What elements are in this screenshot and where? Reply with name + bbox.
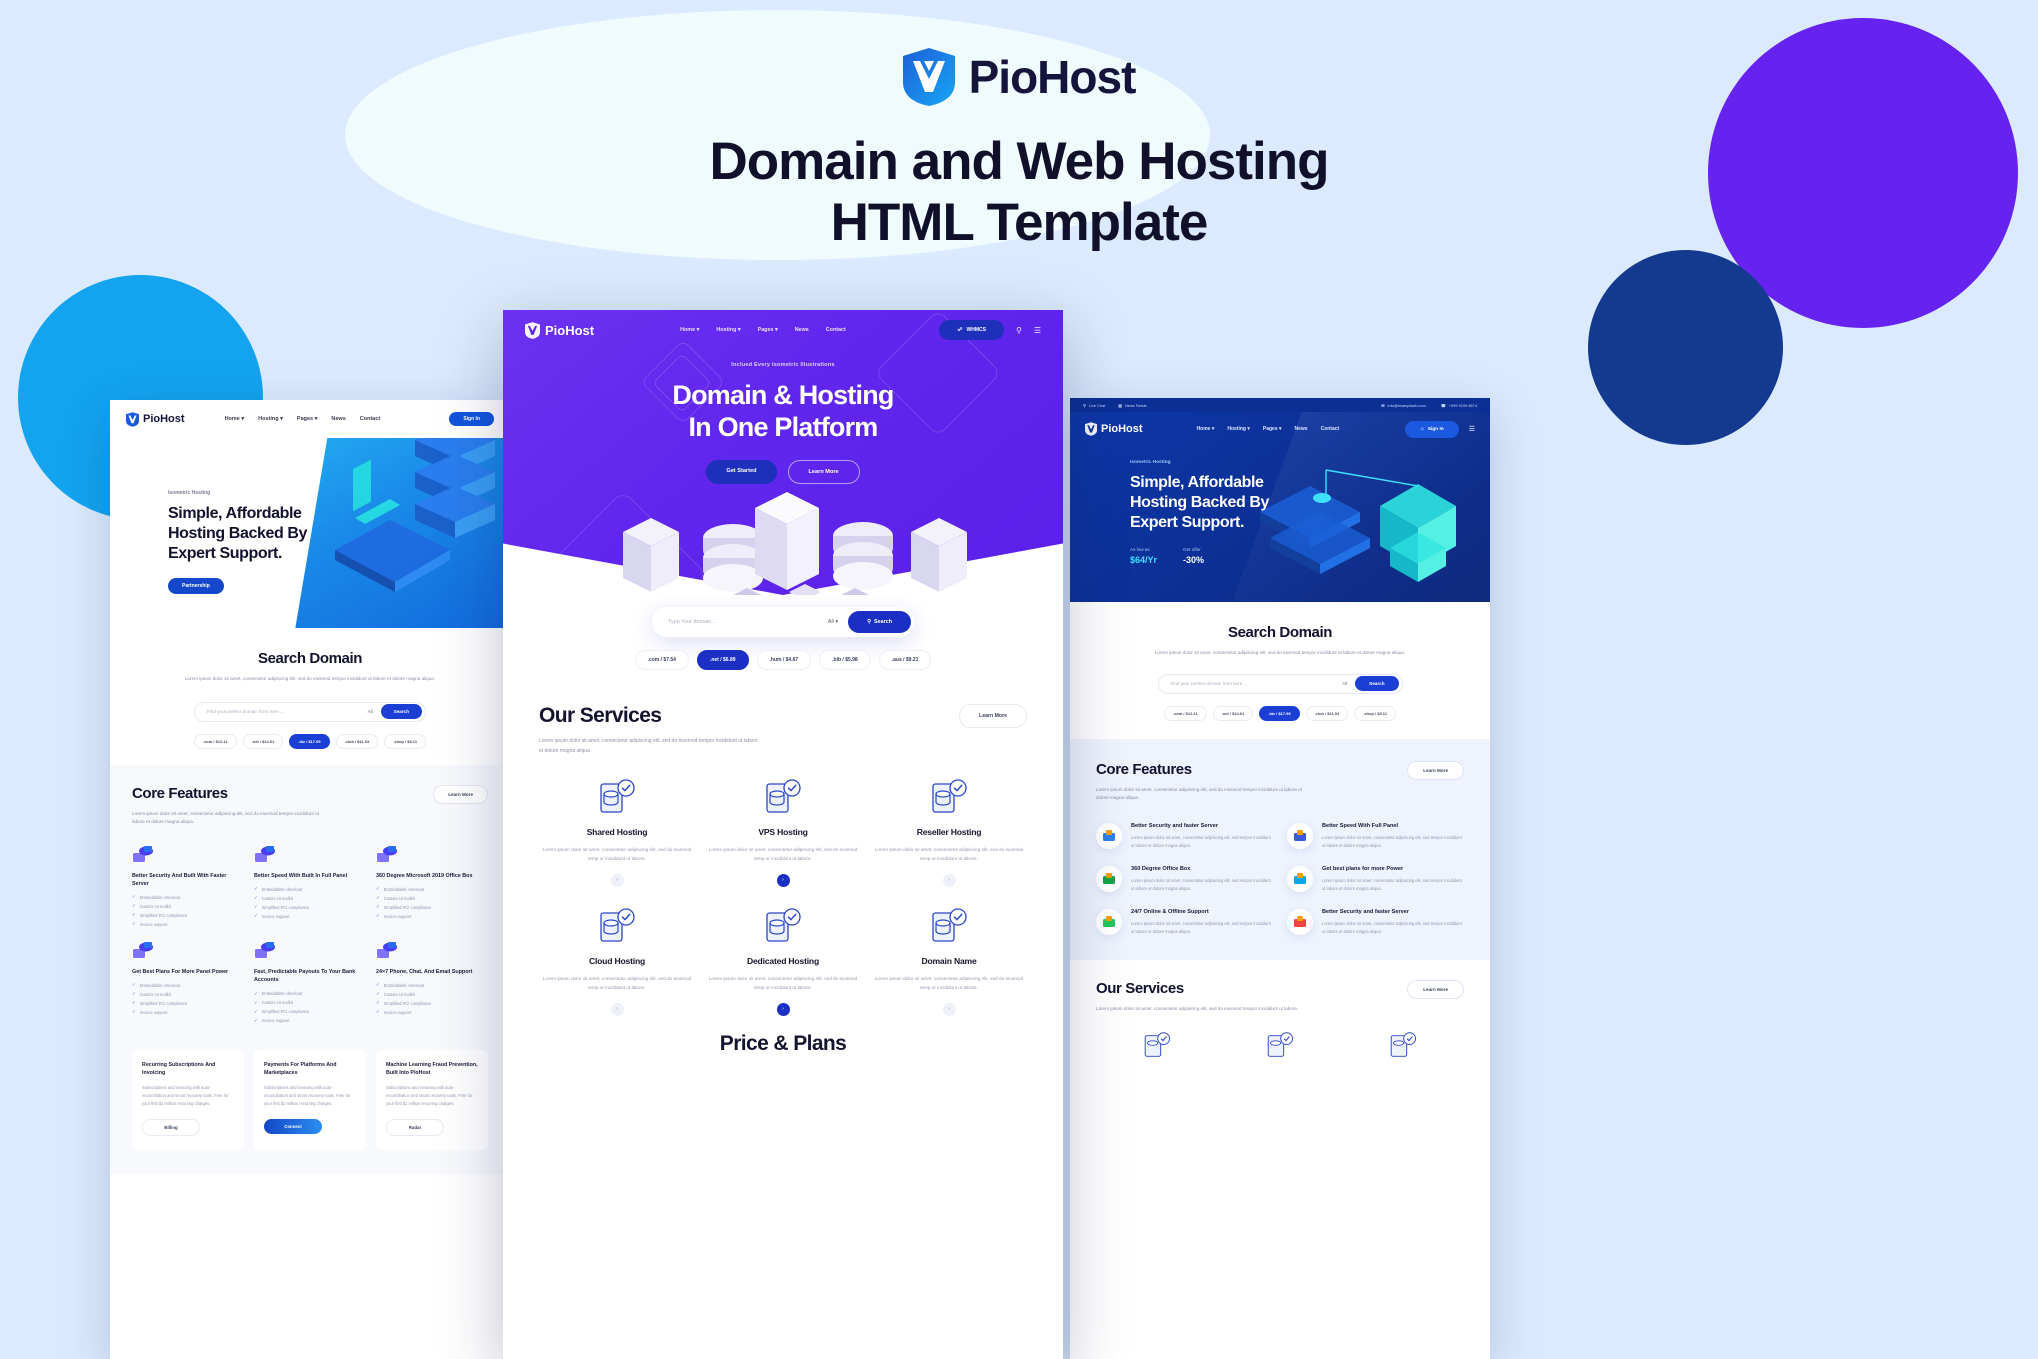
- left-feature-bullet: ✓Embeddable checkout: [254, 991, 366, 997]
- check-icon: ✓: [132, 903, 136, 909]
- right-hero-heading: Simple, Affordable Hosting Backed By Exp…: [1130, 473, 1305, 533]
- database-check-icon: [539, 778, 695, 818]
- center-nav-item-home[interactable]: Home ▾: [680, 327, 699, 333]
- left-feature-bullet: ✓Custom UI toolkit: [254, 895, 366, 901]
- tld-chip-com[interactable]: .com / $12.11: [194, 734, 237, 749]
- center-hero-heading-line1: Domain & Hosting: [503, 379, 1063, 411]
- tld-chip-bib[interactable]: .bib / $5.98: [819, 650, 871, 670]
- center-search-input[interactable]: Type Your domain...: [668, 619, 828, 625]
- center-price-title: Price & Plans: [503, 1032, 1063, 1056]
- left-feature-bullet: ✓Simplified PCI compliance: [376, 1000, 488, 1006]
- shield-logo-icon: [525, 322, 540, 339]
- right-service-grid: [1096, 1032, 1464, 1065]
- center-service-card[interactable]: Dedicated HostingLorem ipsum dolor sit a…: [705, 907, 861, 1016]
- left-info-card: Recurring Subscriptions And InvoicingSub…: [132, 1050, 244, 1151]
- chevron-down-icon: ▾: [835, 619, 838, 625]
- center-logo-text: PioHost: [545, 323, 594, 338]
- right-logo-text: PioHost: [1101, 423, 1143, 435]
- left-feature-item: Fast, Predictable Payouts To Your Bank A…: [254, 941, 366, 1023]
- tld-chip-net[interactable]: .net / $14.61: [1213, 706, 1254, 721]
- menu-icon[interactable]: ☰: [1469, 425, 1475, 433]
- right-service-card[interactable]: [1341, 1032, 1464, 1065]
- user-icon: ☺: [1420, 427, 1425, 432]
- center-hero-heading-line2: In One Platform: [503, 411, 1063, 443]
- left-hero-heading: Simple, Affordable Hosting Backed By Exp…: [168, 504, 358, 564]
- left-search-subtitle: Lorem ipsum dolor sit amet, consectetur …: [110, 675, 510, 684]
- right-feature-item: Get best plans for more PowerLorem ipsum…: [1287, 866, 1464, 893]
- left-hero-text: Isometric Hosting Simple, Affordable Hos…: [168, 490, 358, 594]
- left-logo-text: PioHost: [143, 413, 185, 425]
- left-nav-item-hosting[interactable]: Hosting ▾: [258, 416, 283, 422]
- center-services-subtitle: Lorem ipsum dolor sit amet, consectetur …: [539, 736, 759, 756]
- check-icon: ✓: [376, 1009, 380, 1015]
- tld-chip-shop[interactable]: .shop / $9.11: [1354, 706, 1396, 721]
- pie-chart-icon: [1287, 909, 1313, 935]
- cloud-folder-icon: [132, 845, 154, 865]
- server-check-icon: [705, 778, 861, 818]
- left-core-features-head: Core Features Lorem ipsum dolor sit amet…: [132, 785, 488, 827]
- center-service-text: Lorem ipsum dolor sit amet, consectetur …: [705, 974, 861, 993]
- mail-icon: ✉: [1381, 403, 1384, 408]
- check-icon: ✓: [376, 904, 380, 910]
- left-search-button[interactable]: Search: [381, 704, 422, 719]
- right-search-input[interactable]: Find your perfect domain from here ...: [1171, 681, 1343, 686]
- center-whmcs-button[interactable]: ☍ WHMCS: [939, 320, 1004, 340]
- right-search-section: Search Domain Lorem ipsum dolor sit amet…: [1070, 602, 1490, 739]
- left-feature-item: 24×7 Phone, Chat, And Email Support✓Embe…: [376, 941, 488, 1023]
- left-nav-menu[interactable]: Home ▾Hosting ▾Pages ▾NewsContact: [225, 416, 381, 422]
- right-core-features-head: Core Features Lorem ipsum dolor sit amet…: [1096, 761, 1464, 803]
- center-nav-actions: ☍ WHMCS ⚲ ☰: [939, 320, 1041, 340]
- left-search-bar[interactable]: Find your perfect domain from here ... A…: [194, 702, 426, 722]
- check-icon: ✓: [132, 991, 136, 997]
- left-nav-item-contact[interactable]: Contact: [360, 416, 380, 422]
- center-service-arrow[interactable]: ›: [943, 1003, 956, 1016]
- left-core-features-title: Core Features: [132, 785, 322, 802]
- right-feature-text: Lorem ipsum dolor sit amet, consectetur …: [1322, 920, 1464, 936]
- center-service-card[interactable]: Cloud HostingLorem ipsum dolor sit amet,…: [539, 907, 695, 1016]
- left-feature-grid: Better Security And Built With Faster Se…: [132, 845, 488, 1023]
- check-icon: ✓: [254, 1018, 258, 1024]
- check-icon: ✓: [376, 982, 380, 988]
- center-service-title: VPS Hosting: [705, 827, 861, 837]
- center-service-card[interactable]: VPS HostingLorem ipsum dolor sit amet, c…: [705, 778, 861, 887]
- right-nav-item-contact[interactable]: Contact: [1321, 426, 1340, 432]
- left-feature-bullet: ✓Simplified PCI compliance: [376, 904, 488, 910]
- center-service-title: Cloud Hosting: [539, 956, 695, 966]
- learn-more-button[interactable]: Learn More: [788, 460, 860, 484]
- center-service-arrow[interactable]: ›: [777, 1003, 790, 1016]
- left-nav-item-pages[interactable]: Pages ▾: [297, 416, 318, 422]
- get-started-button[interactable]: Get Started: [706, 460, 776, 484]
- center-price-section: Price & Plans: [503, 1016, 1063, 1060]
- center-service-card[interactable]: Domain NameLorem ipsum dolor sit amet, c…: [871, 907, 1027, 1016]
- tld-chip-biz[interactable]: .biz / $17.99: [289, 734, 329, 749]
- check-icon: ✓: [254, 1009, 258, 1015]
- left-search-title: Search Domain: [110, 650, 510, 667]
- check-icon: ✓: [132, 982, 136, 988]
- right-offer1-value: $64/Yr: [1130, 555, 1157, 565]
- left-nav-item-news[interactable]: News: [331, 416, 345, 422]
- left-logo[interactable]: PioHost: [126, 412, 185, 427]
- brand-row: PioHost: [0, 48, 2038, 106]
- check-icon: ✓: [254, 913, 258, 919]
- tld-chip-aus[interactable]: .aus / $9.21: [879, 650, 932, 670]
- right-feature-item: Better Speed With Full PanelLorem ipsum …: [1287, 823, 1464, 850]
- shield-logo-icon: [1085, 422, 1097, 436]
- center-hero-illustration: [503, 492, 1063, 595]
- shield-logo-icon: [126, 412, 139, 427]
- center-service-text: Lorem ipsum dolor sit amet, consectetur …: [871, 845, 1027, 864]
- right-core-features-subtitle: Lorem ipsum dolor sit amet, consectetur …: [1096, 786, 1306, 803]
- right-topbar: ⚲ Live Chat ▤ News Feeds ✉ info@examplwe…: [1070, 398, 1490, 412]
- left-search-input[interactable]: Find your perfect domain from here ...: [207, 709, 368, 714]
- left-feature-bullet: ✓Simplified PCI compliance: [254, 904, 366, 910]
- isometric-servers-icon: [503, 492, 1063, 595]
- piohost-shield-logo-icon: [903, 48, 955, 106]
- center-search-button[interactable]: ⚲ Search: [848, 611, 911, 633]
- check-icon: ✓: [132, 921, 136, 927]
- left-card-text: Subscriptions and invoicing with auto-re…: [386, 1084, 478, 1107]
- left-mockup: PioHost Home ▾Hosting ▾Pages ▾NewsContac…: [110, 400, 510, 1359]
- cloud-database-icon: [132, 941, 154, 961]
- center-services-title: Our Services: [539, 704, 759, 728]
- left-search-section: Search Domain Lorem ipsum dolor sit amet…: [110, 628, 510, 765]
- tld-chip-shop[interactable]: .shop / $9.11: [384, 734, 426, 749]
- center-service-text: Lorem ipsum dolor sit amet, consectetur …: [539, 845, 695, 864]
- right-feature-title: Get best plans for more Power: [1322, 866, 1464, 872]
- right-logo[interactable]: PioHost: [1085, 422, 1143, 436]
- right-navbar: PioHost Home ▾Hosting ▾Pages ▾NewsContac…: [1070, 412, 1490, 446]
- right-live-chat[interactable]: ⚲ Live Chat: [1083, 403, 1105, 408]
- center-logo[interactable]: PioHost: [525, 322, 594, 339]
- menu-icon[interactable]: ☰: [1034, 326, 1041, 335]
- center-service-title: Reseller Hosting: [871, 827, 1027, 837]
- globe-network-icon: [254, 845, 276, 865]
- left-tld-list: .com / $12.11.net / $14.61.biz / $17.99.…: [110, 734, 510, 749]
- left-feature-bullet: ✓Invoice support: [254, 1018, 366, 1024]
- monitor-support-icon: [1096, 909, 1122, 935]
- tld-chip-com[interactable]: .com / $7.54: [635, 650, 689, 670]
- left-feature-item: 360 Degree Microsoft 2019 Office Box✓Emb…: [376, 845, 488, 927]
- right-search-bar[interactable]: Find your perfect domain from here ... A…: [1158, 674, 1403, 694]
- right-topbar-contact: ✉ info@examplweb.com ☎ +099 9199 8674: [1381, 403, 1477, 408]
- center-tld-list: .com / $7.54.net / $6.89.hum / $4.67.bib…: [503, 650, 1063, 670]
- right-nav-item-pages[interactable]: Pages ▾: [1263, 426, 1282, 432]
- right-hero-kicker: Isometric Hosting: [1130, 460, 1305, 465]
- left-feature-bullet: ✓Invoice support: [376, 1009, 488, 1015]
- header-block: PioHost Domain and Web Hosting HTML Temp…: [0, 0, 2038, 254]
- right-core-features: Core Features Lorem ipsum dolor sit amet…: [1070, 739, 1490, 960]
- left-card-text: Subscriptions and invoicing with auto-re…: [142, 1084, 234, 1107]
- tld-chip-biz[interactable]: .biz / $17.99: [1259, 706, 1299, 721]
- left-feature-bullet: ✓Custom UI toolkit: [132, 991, 244, 997]
- page-title-line1: Domain and Web Hosting: [0, 132, 2038, 193]
- left-core-features-learn-more[interactable]: Learn More: [433, 785, 488, 804]
- center-mockup: PioHost Home ▾Hosting ▾Pages ▾NewsContac…: [503, 310, 1063, 1359]
- check-icon: ✓: [132, 1009, 136, 1015]
- check-icon: ✓: [132, 894, 136, 900]
- right-search-filter[interactable]: All: [1342, 681, 1347, 686]
- left-feature-bullet: ✓Custom UI toolkit: [254, 1000, 366, 1006]
- left-feature-title: 360 Degree Microsoft 2019 Office Box: [376, 872, 488, 880]
- right-mockup: ⚲ Live Chat ▤ News Feeds ✉ info@examplwe…: [1070, 398, 1490, 1359]
- left-nav-item-home[interactable]: Home ▾: [225, 416, 245, 422]
- right-feature-text: Lorem ipsum dolor sit amet, consectetur …: [1131, 877, 1273, 893]
- left-feature-bullet: ✓Embeddable checkout: [376, 886, 488, 892]
- database-check-icon: [539, 907, 695, 947]
- briefcase-icon: [1096, 866, 1122, 892]
- right-phone[interactable]: ☎ +099 9199 8674: [1441, 403, 1477, 408]
- check-icon: ✓: [376, 913, 380, 919]
- cloud-basket-icon: [1287, 823, 1313, 849]
- left-feature-item: Get Best Plans For More Panel Power✓Embe…: [132, 941, 244, 1023]
- check-icon: ✓: [376, 1000, 380, 1006]
- right-news-feeds[interactable]: ▤ News Feeds: [1118, 403, 1146, 408]
- right-feature-title: Better Security and faster Server: [1322, 909, 1464, 915]
- left-card-button[interactable]: Connect: [264, 1119, 322, 1134]
- center-service-text: Lorem ipsum dolor sit amet, consectetur …: [539, 974, 695, 993]
- right-offer2-label: Get offer: [1183, 547, 1204, 552]
- download-box-icon: [1096, 823, 1122, 849]
- left-feature-bullet: ✓Custom UI toolkit: [132, 903, 244, 909]
- right-services-subtitle: Lorem ipsum dolor sit amet, consectetur …: [1096, 1005, 1298, 1014]
- left-hero-kicker: Isometric Hosting: [168, 490, 358, 496]
- check-icon: ✓: [254, 1000, 258, 1006]
- check-icon: ✓: [254, 904, 258, 910]
- right-feature-item: 24/7 Online & Offline SupportLorem ipsum…: [1096, 909, 1273, 936]
- page-title-line2: HTML Template: [0, 193, 2038, 254]
- right-services-title: Our Services: [1096, 980, 1298, 997]
- left-feature-bullet: ✓Embeddable checkout: [376, 982, 488, 988]
- right-core-features-title: Core Features: [1096, 761, 1306, 778]
- left-feature-bullet: ✓Invoice support: [254, 913, 366, 919]
- center-navbar: PioHost Home ▾Hosting ▾Pages ▾NewsContac…: [503, 310, 1063, 350]
- right-tld-list: .com / $12.11.net / $14.61.biz / $17.99.…: [1070, 706, 1490, 721]
- phone-icon: ☎: [1441, 403, 1446, 408]
- center-service-text: Lorem ipsum dolor sit amet, consectetur …: [871, 974, 1027, 993]
- center-hero-kicker: Inclued Every Isometric Illustrations: [503, 362, 1063, 368]
- left-card-title: Payments For Platforms And Marketplaces: [264, 1062, 356, 1078]
- right-feature-text: Lorem ipsum dolor sit amet, consectetur …: [1322, 834, 1464, 850]
- database-globe-icon: [871, 778, 1027, 818]
- center-service-title: Domain Name: [871, 956, 1027, 966]
- tld-chip-net[interactable]: .net / $14.61: [243, 734, 284, 749]
- left-feature-bullet: ✓Embeddable checkout: [254, 886, 366, 892]
- left-search-filter[interactable]: All: [368, 709, 373, 714]
- left-feature-bullet: ✓Simplified PCI compliance: [132, 912, 244, 918]
- left-info-card: Payments For Platforms And MarketplacesS…: [254, 1050, 366, 1151]
- center-search-filter[interactable]: All ▾: [828, 619, 838, 625]
- center-hero: PioHost Home ▾Hosting ▾Pages ▾NewsContac…: [503, 310, 1063, 595]
- right-hero-text: Isometric Hosting Simple, Affordable Hos…: [1070, 446, 1305, 565]
- center-nav-item-contact[interactable]: Contact: [826, 327, 846, 333]
- left-card-text: Subscriptions and invoicing with auto-re…: [264, 1084, 356, 1107]
- center-nav-item-news[interactable]: News: [795, 327, 809, 333]
- right-nav-item-hosting[interactable]: Hosting ▾: [1227, 426, 1250, 432]
- tld-chip-club[interactable]: .club / $11.04: [336, 734, 379, 749]
- network-icon: [1287, 866, 1313, 892]
- check-icon: ✓: [254, 895, 258, 901]
- left-signin-button[interactable]: Sign In: [449, 412, 494, 426]
- database-check-icon: [1388, 1032, 1418, 1060]
- right-feature-title: Better Speed With Full Panel: [1322, 823, 1464, 829]
- right-search-button[interactable]: Search: [1355, 676, 1398, 691]
- left-info-card: Machine Learning Fraud Prevention, Built…: [376, 1050, 488, 1151]
- left-card-grid: Recurring Subscriptions And InvoicingSub…: [110, 1044, 510, 1175]
- center-service-title: Dedicated Hosting: [705, 956, 861, 966]
- right-nav-menu[interactable]: Home ▾Hosting ▾Pages ▾NewsContact: [1197, 426, 1340, 432]
- left-feature-bullet: ✓Simplified PCI compliance: [132, 1000, 244, 1006]
- tld-chip-com[interactable]: .com / $12.11: [1164, 706, 1207, 721]
- left-core-features: Core Features Lorem ipsum dolor sit amet…: [110, 765, 510, 1044]
- right-feature-text: Lorem ipsum dolor sit amet, consectetur …: [1131, 834, 1273, 850]
- right-hero-offers: As low as $64/Yr Get offer -30%: [1130, 547, 1305, 565]
- right-service-card[interactable]: [1096, 1032, 1219, 1065]
- center-services-head: Our Services Lorem ipsum dolor sit amet,…: [539, 704, 1027, 756]
- left-feature-title: Fast, Predictable Payouts To Your Bank A…: [254, 968, 366, 984]
- right-services-section: Our Services Lorem ipsum dolor sit amet,…: [1070, 960, 1490, 1065]
- left-feature-item: Better Security And Built With Faster Se…: [132, 845, 244, 927]
- left-feature-title: Better Speed With Built In Full Panel: [254, 872, 366, 880]
- right-offer-1: As low as $64/Yr: [1130, 547, 1157, 565]
- left-feature-bullet: ✓Invoice support: [376, 913, 488, 919]
- center-services-section: Our Services Lorem ipsum dolor sit amet,…: [503, 686, 1063, 1016]
- center-service-arrow[interactable]: ›: [943, 874, 956, 887]
- chat-icon: ⚲: [1083, 403, 1086, 408]
- right-nav-item-home[interactable]: Home ▾: [1197, 426, 1215, 432]
- brand-name: PioHost: [969, 50, 1136, 104]
- left-hero: Isometric Hosting Simple, Affordable Hos…: [110, 438, 510, 628]
- left-feature-title: Better Security And Built With Faster Se…: [132, 872, 244, 888]
- center-search-section: Type Your domain... All ▾ ⚲ Search .com …: [503, 595, 1063, 686]
- server-check-icon: [705, 907, 861, 947]
- center-hero-buttons: Get Started Learn More: [503, 460, 1063, 484]
- upload-box-icon: [376, 845, 398, 865]
- right-offer2-value: -30%: [1183, 555, 1204, 565]
- right-feature-grid: Better Security and faster ServerLorem i…: [1096, 823, 1464, 936]
- check-icon: ✓: [254, 991, 258, 997]
- right-offer1-label: As low as: [1130, 547, 1157, 552]
- center-nav-item-hosting[interactable]: Hosting ▾: [716, 327, 740, 333]
- center-service-arrow[interactable]: ›: [777, 874, 790, 887]
- right-feature-text: Lorem ipsum dolor sit amet, consectetur …: [1322, 877, 1464, 893]
- database-check-icon: [1142, 1032, 1172, 1060]
- left-hero-button[interactable]: Partnership: [168, 578, 224, 594]
- check-icon: ✓: [132, 1000, 136, 1006]
- check-icon: ✓: [376, 886, 380, 892]
- center-hero-text: Inclued Every Isometric Illustrations Do…: [503, 362, 1063, 484]
- right-feature-text: Lorem ipsum dolor sit amet, consectetur …: [1131, 920, 1273, 936]
- right-feature-item: Better Security and faster ServerLorem i…: [1287, 909, 1464, 936]
- check-icon: ✓: [254, 886, 258, 892]
- center-search-bar[interactable]: Type Your domain... All ▾ ⚲ Search: [652, 607, 914, 637]
- left-navbar: PioHost Home ▾Hosting ▾Pages ▾NewsContac…: [110, 400, 510, 438]
- search-icon: ⚲: [867, 619, 871, 625]
- right-service-card[interactable]: [1219, 1032, 1342, 1065]
- right-feature-title: 360 Degree Office Box: [1131, 866, 1273, 872]
- left-feature-bullet: ✓Simplified PCI compliance: [254, 1009, 366, 1015]
- center-service-card[interactable]: Shared HostingLorem ipsum dolor sit amet…: [539, 778, 695, 887]
- news-icon: ▤: [1118, 403, 1122, 408]
- right-offer-2: Get offer -30%: [1183, 547, 1204, 565]
- left-feature-bullet: ✓Custom UI toolkit: [376, 991, 488, 997]
- center-service-arrow[interactable]: ›: [611, 1003, 624, 1016]
- right-services-head: Our Services Lorem ipsum dolor sit amet,…: [1096, 980, 1464, 1014]
- check-icon: ✓: [132, 912, 136, 918]
- left-card-title: Recurring Subscriptions And Invoicing: [142, 1062, 234, 1078]
- left-feature-bullet: ✓Embeddable checkout: [132, 894, 244, 900]
- center-service-arrow[interactable]: ›: [611, 874, 624, 887]
- left-feature-bullet: ✓Custom UI toolkit: [376, 895, 488, 901]
- left-card-button[interactable]: Radar: [386, 1119, 444, 1136]
- left-feature-bullet: ✓Invoice support: [132, 1009, 244, 1015]
- database-globe-icon: [871, 907, 1027, 947]
- center-services-learn-more[interactable]: Learn More: [959, 704, 1027, 728]
- center-service-title: Shared Hosting: [539, 827, 695, 837]
- center-service-card[interactable]: Reseller HostingLorem ipsum dolor sit am…: [871, 778, 1027, 887]
- left-feature-item: Better Speed With Built In Full Panel✓Em…: [254, 845, 366, 927]
- right-feature-title: Better Security and faster Server: [1131, 823, 1273, 829]
- left-feature-title: 24×7 Phone, Chat, And Email Support: [376, 968, 488, 976]
- right-feature-item: 360 Degree Office BoxLorem ipsum dolor s…: [1096, 866, 1273, 893]
- cloud-payment-icon: [254, 941, 276, 961]
- left-card-button[interactable]: Billing: [142, 1119, 200, 1136]
- center-service-text: Lorem ipsum dolor sit amet, consectetur …: [705, 845, 861, 864]
- left-feature-bullet: ✓Embeddable checkout: [132, 982, 244, 988]
- left-core-features-subtitle: Lorem ipsum dolor sit amet, consectetur …: [132, 810, 322, 827]
- center-hero-heading: Domain & Hosting In One Platform: [503, 379, 1063, 444]
- right-hero: PioHost Home ▾Hosting ▾Pages ▾NewsContac…: [1070, 412, 1490, 602]
- right-email[interactable]: ✉ info@examplweb.com: [1381, 403, 1426, 408]
- left-feature-title: Get Best Plans For More Panel Power: [132, 968, 244, 976]
- right-nav-item-news[interactable]: News: [1295, 426, 1308, 432]
- right-search-subtitle: Lorem ipsum dolor sit amet, consectetur …: [1070, 649, 1490, 658]
- tld-chip-net[interactable]: .net / $6.89: [697, 650, 749, 670]
- right-feature-title: 24/7 Online & Offline Support: [1131, 909, 1273, 915]
- center-nav-item-pages[interactable]: Pages ▾: [758, 327, 778, 333]
- right-core-features-learn-more[interactable]: Learn More: [1407, 761, 1464, 780]
- check-icon: ✓: [376, 895, 380, 901]
- tld-chip-club[interactable]: .club / $11.04: [1306, 706, 1349, 721]
- left-card-title: Machine Learning Fraud Prevention, Built…: [386, 1062, 478, 1078]
- right-signin-button[interactable]: ☺ Sign In: [1405, 421, 1459, 438]
- center-nav-menu[interactable]: Home ▾Hosting ▾Pages ▾NewsContact: [680, 327, 846, 333]
- center-whmcs-label: WHMCS: [967, 327, 986, 333]
- page-title: Domain and Web Hosting HTML Template: [0, 132, 2038, 254]
- left-feature-bullet: ✓Invoice support: [132, 921, 244, 927]
- right-services-learn-more[interactable]: Learn More: [1407, 980, 1464, 999]
- right-nav-actions: ☺ Sign In ☰: [1405, 421, 1475, 438]
- right-search-title: Search Domain: [1070, 624, 1490, 641]
- database-check-icon: [1265, 1032, 1295, 1060]
- right-feature-item: Better Security and faster ServerLorem i…: [1096, 823, 1273, 850]
- center-service-grid: Shared HostingLorem ipsum dolor sit amet…: [539, 778, 1027, 1016]
- search-icon[interactable]: ⚲: [1016, 326, 1022, 335]
- tld-chip-hum[interactable]: .hum / $4.67: [757, 650, 812, 670]
- decorative-circle-navy: [1588, 250, 1783, 445]
- check-icon: ✓: [376, 991, 380, 997]
- link-icon: ☍: [957, 327, 962, 333]
- monitor-network-icon: [376, 941, 398, 961]
